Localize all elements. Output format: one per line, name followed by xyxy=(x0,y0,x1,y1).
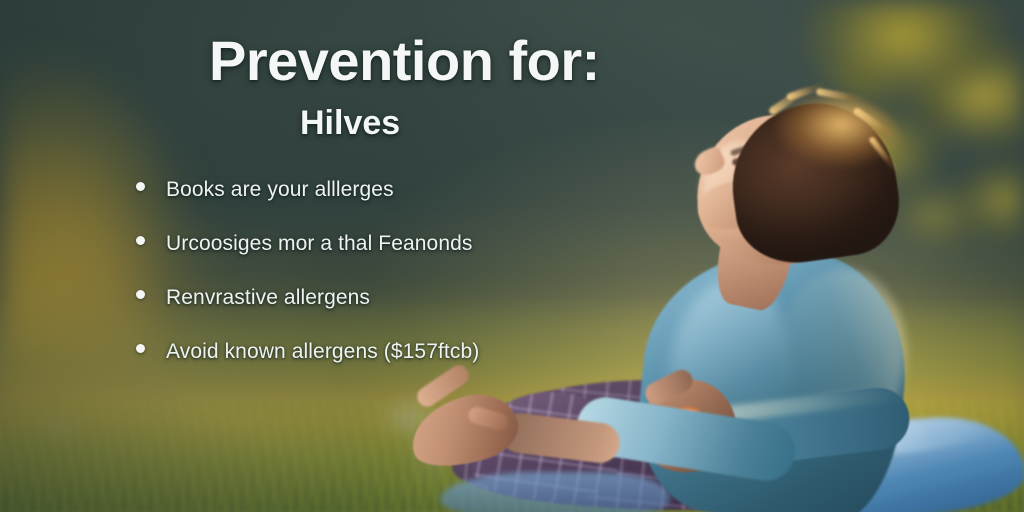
hair-rim-light xyxy=(736,96,906,226)
bullet-label: Urcoosiges mor a thal Feanonds xyxy=(166,232,473,256)
bullet-label: Renvrastive allergens xyxy=(166,286,370,310)
slide-canvas: Prevention for: Hilves Books are your al… xyxy=(0,0,1024,512)
slide-subtitle: Hilves xyxy=(300,104,400,143)
bullet-list: Books are your alllerges Urcoosiges mor … xyxy=(136,178,479,394)
list-item: Renvrastive allergens xyxy=(136,286,479,340)
list-item: Books are your alllerges xyxy=(136,178,479,232)
list-item: Urcoosiges mor a thal Feanonds xyxy=(136,232,479,286)
bullet-dot-icon xyxy=(136,290,145,299)
bullet-dot-icon xyxy=(136,182,145,191)
bullet-dot-icon xyxy=(136,236,145,245)
bullet-label: Books are your alllerges xyxy=(166,178,394,202)
slide-title: Prevention for: xyxy=(209,28,600,93)
list-item: Avoid known allergens ($157ftcb) xyxy=(136,340,479,394)
bullet-dot-icon xyxy=(136,344,145,353)
slide-text-block: Prevention for: Hilves Books are your al… xyxy=(0,0,700,420)
bullet-label: Avoid known allergens ($157ftcb) xyxy=(166,340,479,364)
lower-leg xyxy=(440,472,670,512)
